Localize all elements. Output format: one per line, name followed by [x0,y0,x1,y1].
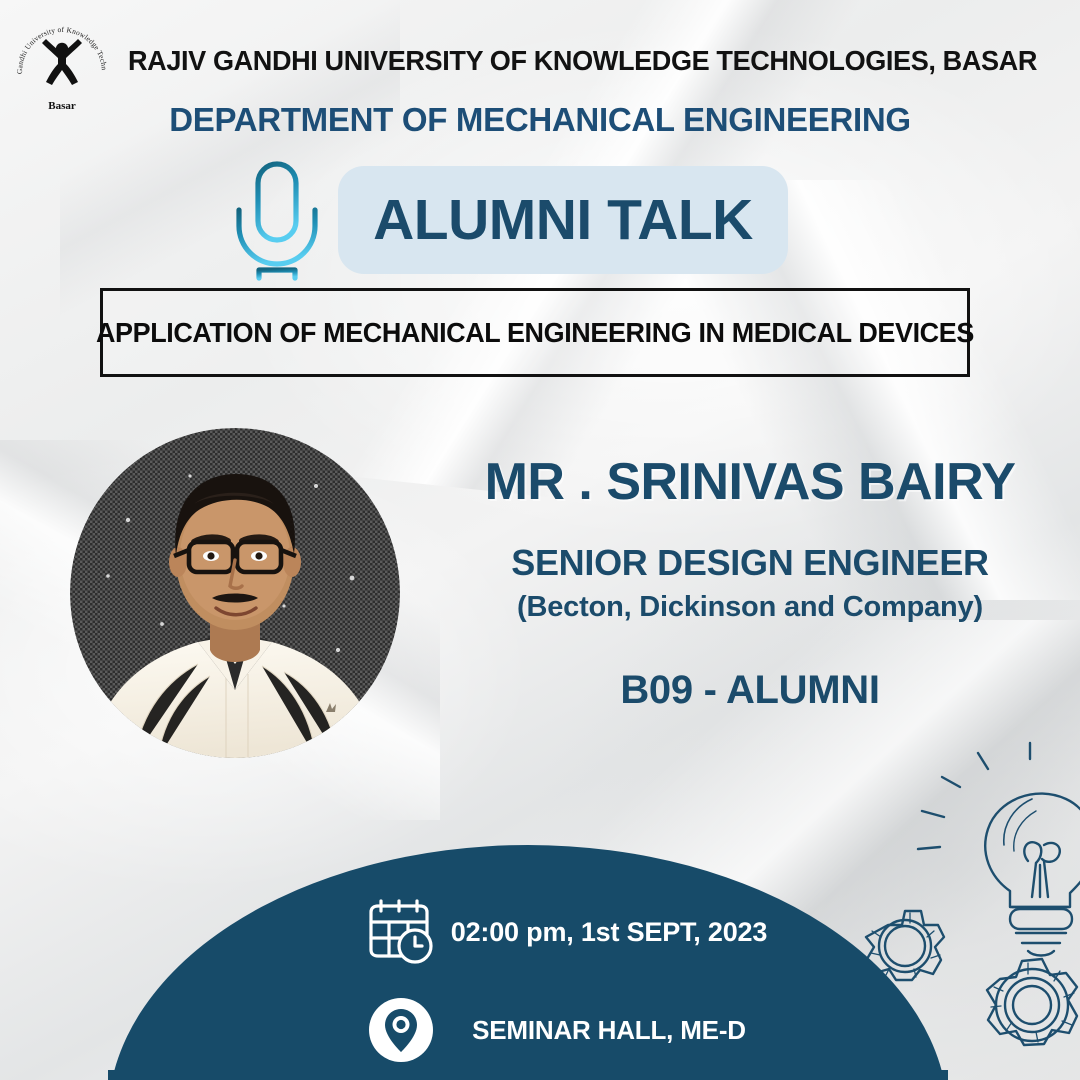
bulb-rays [918,743,1030,849]
footer-shape-fill [108,1070,948,1080]
topic-label: APPLICATION OF MECHANICAL ENGINEERING IN… [96,317,974,349]
speaker-company: (Becton, Dickinson and Company) [430,591,1070,624]
university-title: RAJIV GANDHI UNIVERSITY OF KNOWLEDGE TEC… [128,45,1044,77]
datetime-label: 02:00 pm, 1st SEPT, 2023 [447,915,775,951]
poster-canvas: Rajiv Gandhi University of Knowledge Tec… [0,0,1080,1080]
microphone-icon [225,156,329,284]
department-title: DEPARTMENT OF MECHANICAL ENGINEERING [0,101,1080,139]
alumni-talk-label: ALUMNI TALK [373,192,753,249]
datetime-row: 02:00 pm, 1st SEPT, 2023 [355,898,775,968]
speaker-photo [70,428,400,758]
location-pin-icon [355,996,447,1064]
location-row: SEMINAR HALL, ME-D [355,996,775,1064]
calendar-clock-icon [355,898,447,968]
location-label: SEMINAR HALL, ME-D [447,1015,775,1046]
speaker-name: MR . SRINIVAS BAIRY [430,455,1070,510]
alumni-talk-badge: ALUMNI TALK [338,166,788,274]
university-logo-icon: Rajiv Gandhi University of Knowledge Tec… [8,8,116,116]
gear-large [987,959,1077,1045]
speaker-designation: SENIOR DESIGN ENGINEER [430,542,1070,584]
speaker-batch: B09 - ALUMNI [430,668,1070,713]
topic-box: APPLICATION OF MECHANICAL ENGINEERING IN… [100,288,970,377]
event-info: 02:00 pm, 1st SEPT, 2023 SEMINAR HALL, M… [355,898,775,1064]
speaker-details: MR . SRINIVAS BAIRY SENIOR DESIGN ENGINE… [430,455,1070,713]
